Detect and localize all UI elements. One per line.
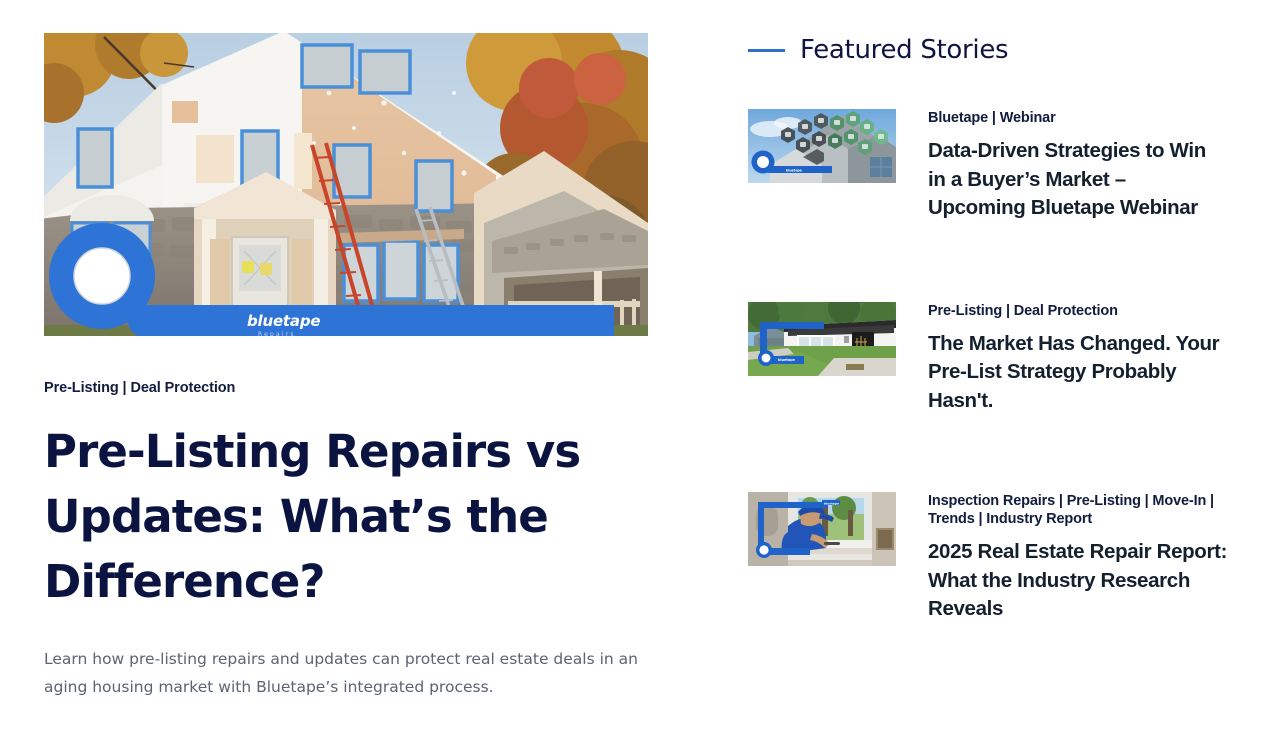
- svg-text:Repairs: Repairs: [258, 331, 296, 336]
- story-category[interactable]: Bluetape | Webinar: [928, 109, 1228, 127]
- house-under-renovation-photo: bluetape Repairs: [44, 33, 648, 336]
- story-body: Inspection Repairs | Pre-Listing | Move-…: [928, 492, 1228, 624]
- story-thumbnail[interactable]: bluetape: [748, 302, 896, 376]
- featured-stories-panel: Featured Stories: [748, 33, 1238, 624]
- feature-category[interactable]: Pre-Listing | Deal Protection: [44, 380, 648, 397]
- story-thumbnail[interactable]: bluetape: [748, 492, 896, 566]
- white-ranch-house-thumbnail: bluetape: [748, 302, 896, 376]
- svg-text:bluetape: bluetape: [247, 312, 320, 330]
- house-with-data-icons-thumbnail: bluetape: [748, 109, 896, 183]
- story-title[interactable]: Data-Driven Strategies to Win in a Buyer…: [928, 137, 1228, 223]
- feature-description: Learn how pre-listing repairs and update…: [44, 645, 644, 701]
- story-item[interactable]: bluetape Bluetape | Webinar Data-Driven …: [748, 109, 1238, 223]
- svg-text:bluetape: bluetape: [778, 358, 796, 362]
- blog-listing-page: bluetape Repairs Pre-Listing | Deal Prot…: [0, 0, 1272, 731]
- story-body: Pre-Listing | Deal Protection The Market…: [928, 302, 1228, 416]
- story-category[interactable]: Pre-Listing | Deal Protection: [928, 302, 1228, 320]
- story-body: Bluetape | Webinar Data-Driven Strategie…: [928, 109, 1228, 223]
- feature-hero-image[interactable]: bluetape Repairs: [44, 33, 648, 336]
- svg-text:bluetape: bluetape: [786, 169, 802, 173]
- feature-title[interactable]: Pre-Listing Repairs vs Updates: What’s t…: [44, 419, 634, 614]
- worker-inspecting-window-thumbnail: bluetape: [748, 492, 896, 566]
- featured-stories-header: Featured Stories: [748, 33, 1238, 67]
- story-item[interactable]: bluetape Inspection Repairs | Pre-Listin…: [748, 492, 1238, 624]
- story-title[interactable]: The Market Has Changed. Your Pre-List St…: [928, 330, 1228, 416]
- featured-stories-heading: Featured Stories: [800, 37, 1008, 63]
- feature-article[interactable]: bluetape Repairs Pre-Listing | Deal Prot…: [44, 33, 648, 716]
- story-category[interactable]: Inspection Repairs | Pre-Listing | Move-…: [928, 492, 1228, 528]
- story-item[interactable]: bluetape Pre-Listing | Deal Protection T…: [748, 302, 1238, 416]
- accent-dash-icon: [748, 49, 785, 52]
- story-thumbnail[interactable]: bluetape: [748, 109, 896, 183]
- story-title[interactable]: 2025 Real Estate Repair Report: What the…: [928, 538, 1228, 624]
- svg-text:bluetape: bluetape: [824, 502, 839, 506]
